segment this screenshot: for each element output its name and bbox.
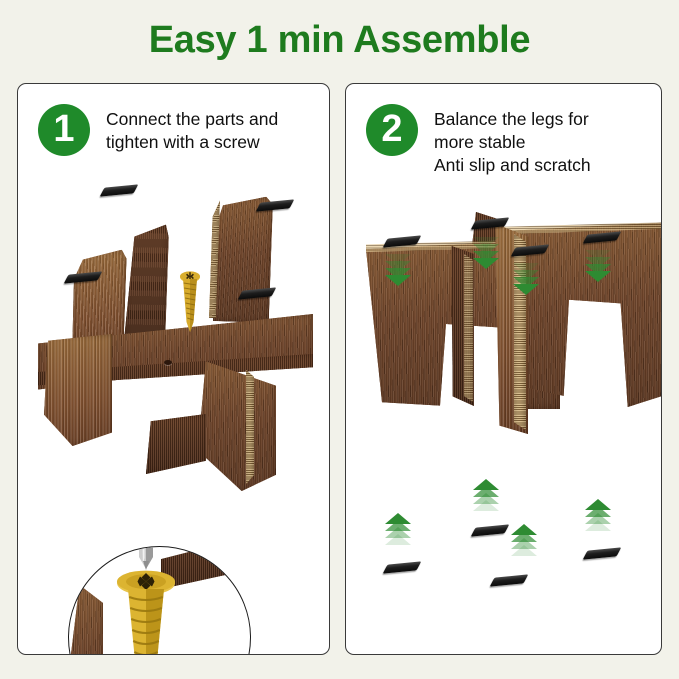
anti-slip-pad: [583, 547, 622, 559]
chevron-up-icon: [585, 520, 611, 531]
wood-upright-right: [211, 195, 273, 323]
chevron-up-group: [585, 499, 611, 527]
step-1-header: 1 Connect the parts and tighten with a s…: [38, 104, 278, 156]
screw-hole: [164, 360, 172, 365]
anti-slip-pad: [471, 524, 510, 536]
anti-slip-pad: [490, 574, 529, 586]
chevron-down-group: [473, 237, 499, 265]
chevron-down-group: [385, 254, 411, 282]
loose-screw-icon: [179, 270, 201, 336]
chevron-down-icon: [513, 284, 539, 295]
step-2-instruction-text: Balance the legs for more stable Anti sl…: [434, 104, 591, 177]
step-1-instruction-text: Connect the parts and tighten with a scr…: [106, 104, 278, 154]
chevron-up-icon: [511, 545, 537, 556]
wood-notch-center: [146, 414, 206, 474]
chevron-up-group: [511, 524, 537, 552]
step-2-panel: 2 Balance the legs for more stable Anti …: [345, 83, 662, 655]
wood-leg-right-edge: [246, 370, 254, 484]
chevron-up-icon: [385, 534, 411, 545]
wood-rib-rear-edge: [464, 254, 473, 402]
inset-wood-plank-left: [68, 585, 103, 655]
inset-screw-icon: [115, 569, 177, 655]
chevron-down-icon: [473, 258, 499, 269]
anti-slip-pad: [383, 561, 422, 573]
chevron-up-group: [385, 513, 411, 541]
step-2-header: 2 Balance the legs for more stable Anti …: [366, 104, 591, 177]
wood-foot-left: [44, 334, 112, 446]
anti-slip-pad: [100, 184, 139, 196]
chevron-down-icon: [385, 275, 411, 286]
screw-closeup-inset: [68, 546, 251, 655]
step-2-badge: 2: [366, 104, 418, 156]
step-1-badge: 1: [38, 104, 90, 156]
wood-leg-right: [198, 356, 276, 491]
chevron-down-group: [513, 263, 539, 291]
chevron-down-group: [585, 250, 611, 278]
chevron-up-group: [473, 479, 499, 507]
chevron-up-icon: [473, 500, 499, 511]
step-1-panel: 1 Connect the parts and tighten with a s…: [17, 83, 330, 655]
page-title: Easy 1 min Assemble: [0, 17, 679, 63]
chevron-down-icon: [585, 271, 611, 282]
assembly-instruction-graphic: Easy 1 min Assemble 1 Connect the parts …: [0, 0, 679, 679]
